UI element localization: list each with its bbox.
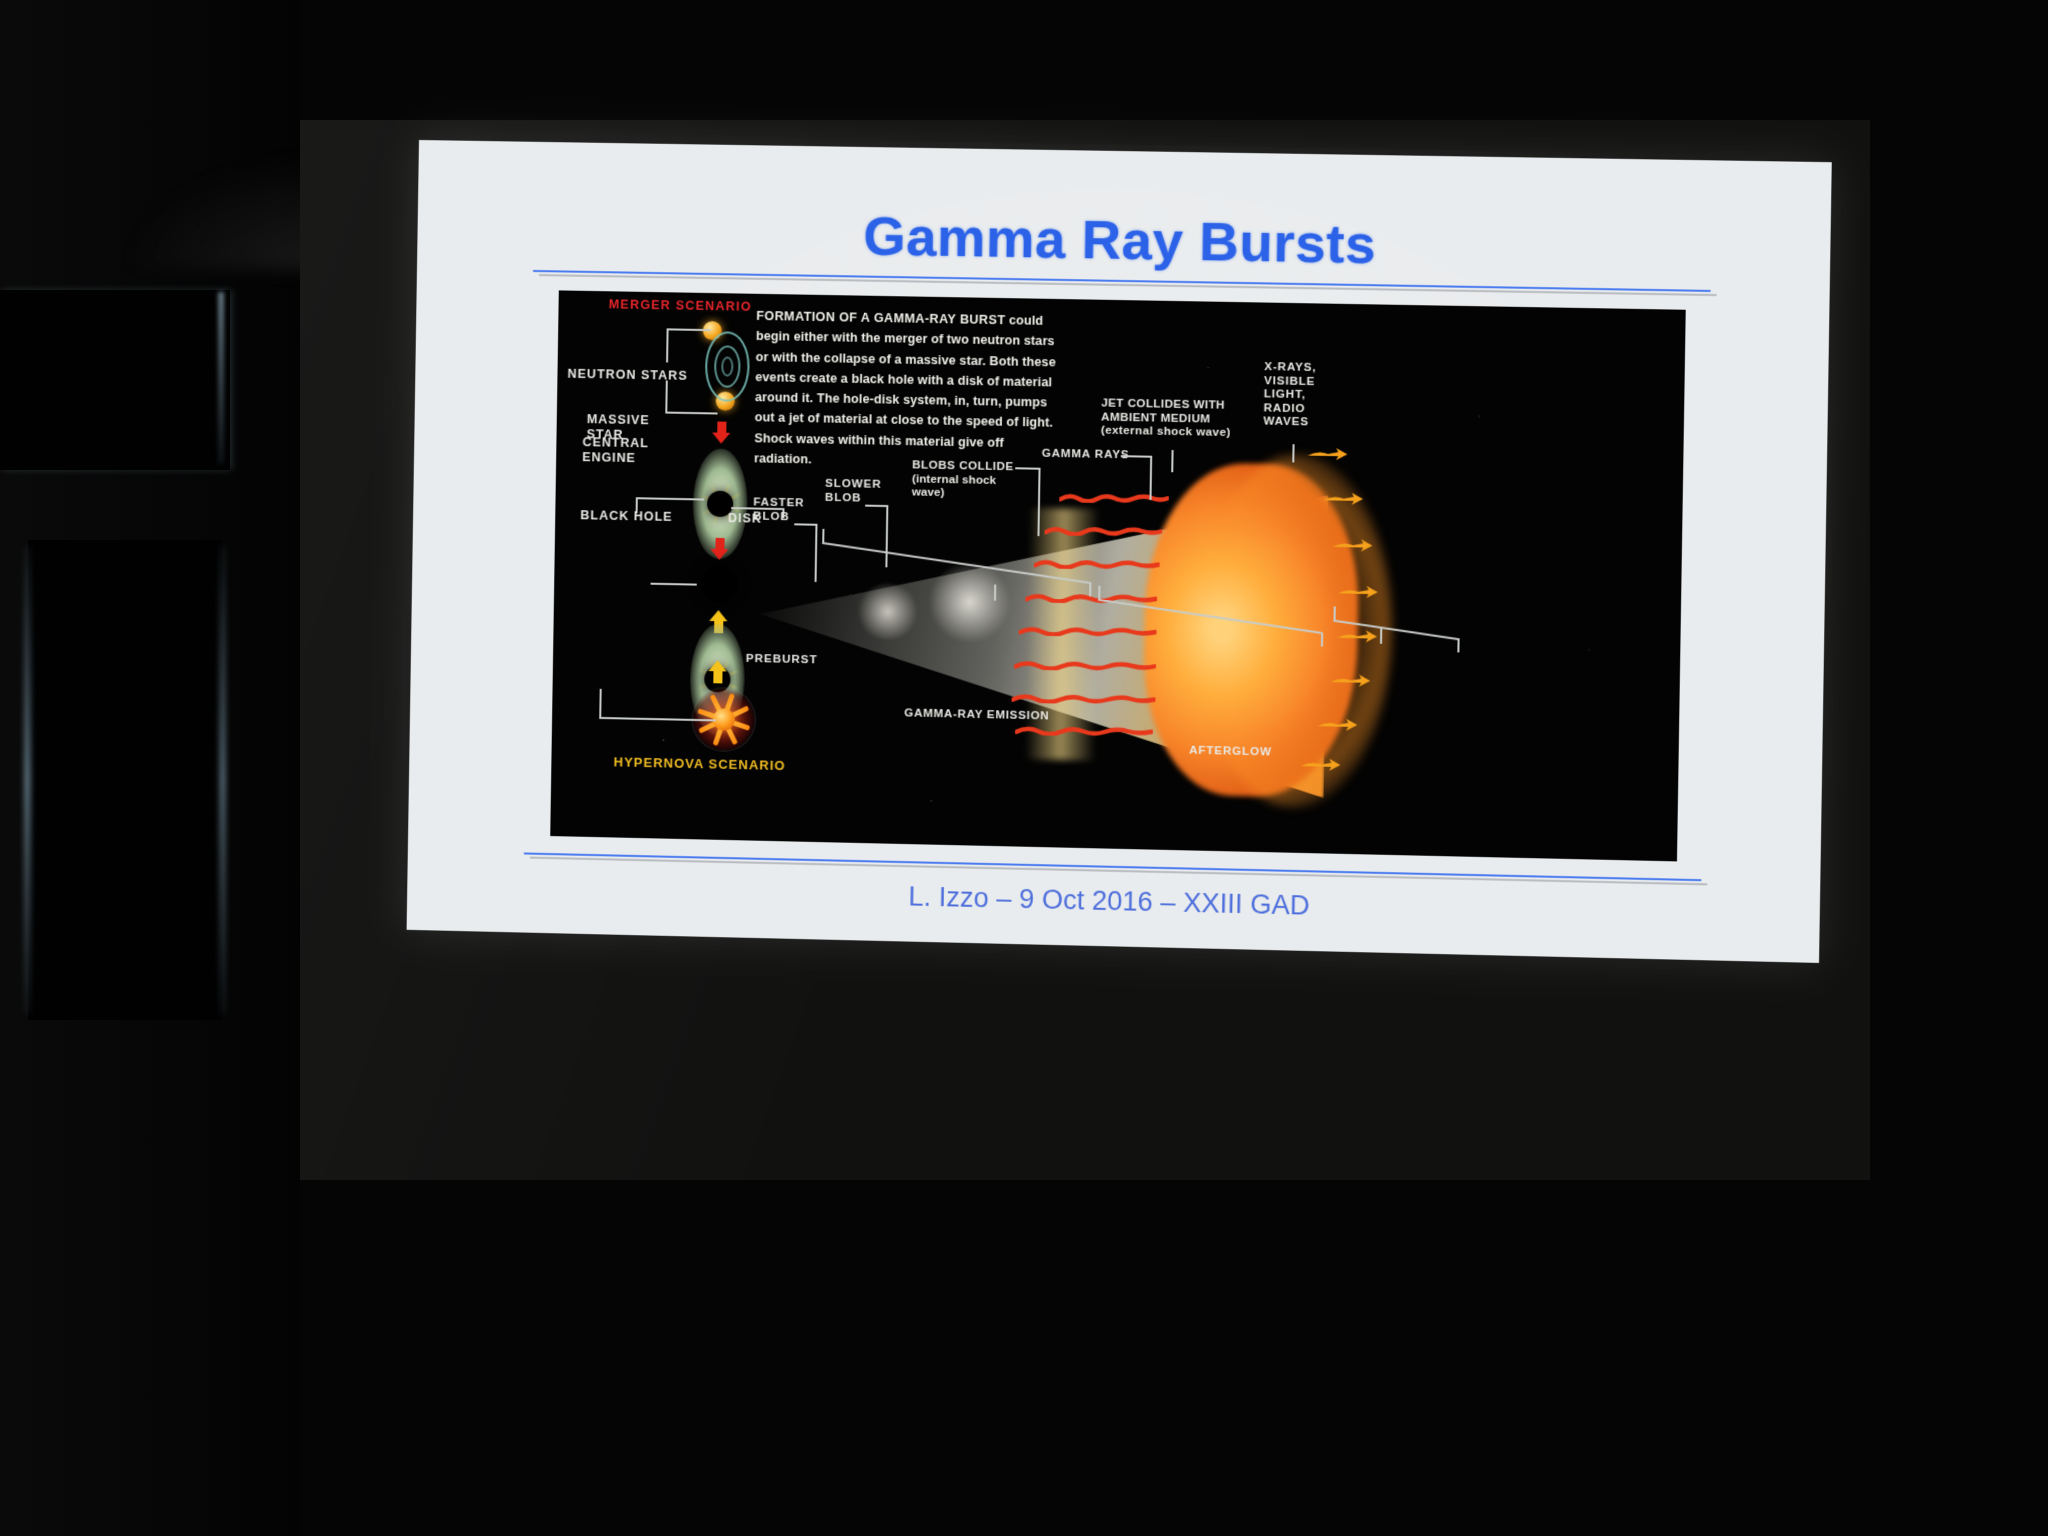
gamma-ray-squiggle-7 [1012, 693, 1156, 705]
figure-caption: FORMATION OF A GAMMA-RAY BURST could beg… [754, 306, 1064, 474]
leader-gre-start [1098, 586, 1100, 600]
gamma-ray-squiggle-5 [1019, 625, 1157, 637]
label-merger-scenario: MERGER SCENARIO [609, 297, 752, 314]
label-gamma-rays: GAMMA RAYS [1042, 448, 1130, 463]
leader-afterglow-start [1334, 606, 1336, 620]
faster-blob-line-1: FASTER [753, 496, 804, 511]
figure-caption-lead: FORMATION OF A GAMMA-RAY BURST [756, 309, 1005, 327]
xrays-line-2: VISIBLE [1264, 375, 1316, 390]
blobs-collide-line-3: wave) [912, 487, 1025, 503]
xrays-line-4: RADIO [1264, 402, 1316, 417]
label-preburst: PREBURST [746, 653, 818, 668]
leader-xrays-v [1292, 444, 1294, 462]
jet-collides-line-3: (external shock wave) [1101, 425, 1243, 441]
leader-gre-tick-real [994, 585, 996, 601]
label-blobs-collide: BLOBS COLLIDE (internal shock wave) [912, 459, 1026, 502]
massive-star-line-2: STAR [587, 427, 650, 443]
gamma-ray-squiggle-6 [1014, 659, 1156, 671]
slide-canvas: Gamma Ray Bursts FORMATION OF A GAMMA-RA… [407, 140, 1832, 963]
afterglow-arrow-3-icon [1333, 538, 1374, 553]
label-black-hole: BLACK HOLE [580, 508, 673, 525]
upper-panel-light-leak [218, 292, 224, 464]
gamma-ray-squiggle-2 [1045, 525, 1163, 536]
leader-gre-end [1321, 632, 1323, 646]
afterglow-arrow-7-icon [1318, 717, 1359, 732]
merger-down-arrow-2-icon [710, 538, 729, 560]
afterglow-arrow-6-icon [1330, 673, 1371, 688]
xrays-line-1: X-RAYS, [1264, 361, 1316, 376]
doorway-light-leak-left [24, 545, 31, 1015]
massive-star-line-1: MASSIVE [587, 412, 650, 428]
doorway-light-leak-right [219, 545, 226, 1015]
afterglow-arrow-1-icon [1308, 447, 1349, 462]
central-engine-line-2: ENGINE [582, 450, 648, 466]
afterglow-arrow-8-icon [1301, 757, 1342, 772]
leader-preburst-end [1089, 582, 1091, 596]
label-massive-star: MASSIVE STAR [587, 412, 650, 443]
gamma-ray-squiggle-4 [1025, 592, 1157, 604]
figure-caption-rest: could begin either with the merger of tw… [754, 313, 1056, 466]
gamma-ray-squiggle-3 [1034, 558, 1160, 570]
hypernova-up-arrow-2-icon [708, 660, 727, 682]
projected-slide: Gamma Ray Bursts FORMATION OF A GAMMA-RA… [403, 140, 1838, 1196]
leader-afterglow-end [1457, 638, 1459, 652]
gamma-ray-squiggle-8 [1015, 725, 1153, 737]
afterglow-arrow-5-icon [1337, 629, 1378, 644]
label-afterglow: AFTERGLOW [1189, 745, 1272, 760]
doorway-dark [28, 540, 223, 1020]
label-neutron-stars: NEUTRON STARS [567, 367, 687, 384]
afterglow-arrow-2-icon [1323, 491, 1364, 506]
grb-infographic: FORMATION OF A GAMMA-RAY BURST could beg… [550, 290, 1686, 861]
xrays-line-5: WAVES [1263, 416, 1315, 431]
leader-afterglow-tick [1380, 628, 1382, 644]
merger-down-arrow-icon [712, 421, 731, 443]
label-jet-collides: JET COLLIDES WITH AMBIENT MEDIUM (extern… [1101, 397, 1244, 441]
label-slower-blob: SLOWER BLOB [825, 478, 882, 506]
label-faster-blob: FASTER BLOB [753, 496, 805, 524]
leader-preburst-tick [822, 529, 824, 543]
gamma-ray-squiggle-1 [1059, 492, 1169, 503]
label-xrays-visible-radio: X-RAYS, VISIBLE LIGHT, RADIO WAVES [1263, 361, 1316, 430]
upper-dark-panel [0, 290, 230, 470]
xrays-line-3: LIGHT, [1264, 388, 1316, 403]
slower-blob-line-1: SLOWER [825, 478, 882, 493]
afterglow-arrow-4-icon [1338, 584, 1379, 599]
